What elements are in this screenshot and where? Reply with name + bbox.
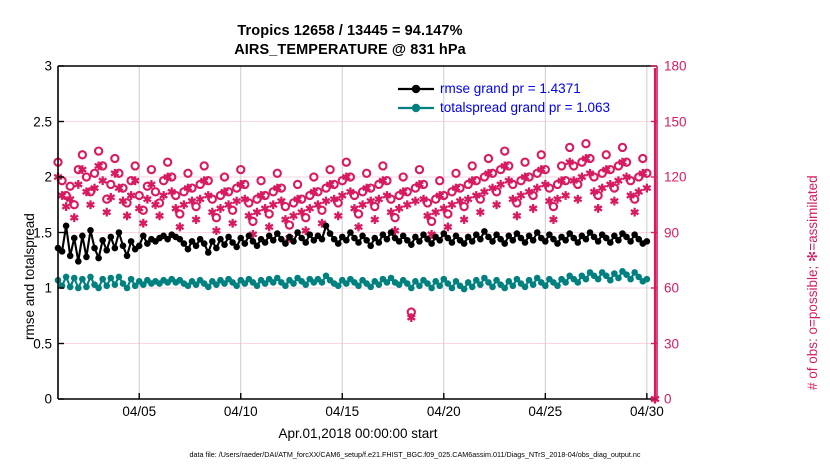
- obs-assimilated-marker: [574, 195, 582, 204]
- rmse-point: [237, 235, 244, 242]
- obs-possible-marker: [79, 151, 86, 158]
- obs-possible-marker: [379, 162, 386, 169]
- rmse-point: [120, 243, 127, 250]
- obs-assimilated-marker: [403, 200, 411, 209]
- obs-possible-marker: [538, 151, 545, 158]
- rmse-point: [347, 229, 354, 236]
- obs-assimilated-marker: [103, 208, 111, 217]
- obs-possible-marker: [266, 210, 273, 217]
- rmse-point: [217, 236, 224, 243]
- totalspread-point: [376, 281, 383, 288]
- rmse-point: [388, 229, 395, 236]
- obs-assimilated-marker: [306, 204, 314, 213]
- obs-possible-marker: [302, 214, 309, 221]
- rmse-point: [270, 237, 277, 244]
- obs-possible-marker: [132, 162, 139, 169]
- obs-assimilated-marker: [322, 197, 330, 206]
- obs-possible-marker: [371, 203, 378, 210]
- obs-assimilated-marker: [99, 176, 107, 185]
- y-tick-label-left: 0.5: [0, 336, 52, 351]
- obs-assimilated-marker: [156, 211, 164, 220]
- obs-possible-marker: [176, 210, 183, 217]
- obs-assimilated-marker: [74, 180, 82, 189]
- obs-possible-marker: [355, 210, 362, 217]
- legend-item-totalspread: totalspread grand pr = 1.063: [396, 98, 610, 117]
- obs-assimilated-marker: [107, 193, 115, 202]
- rmse-point: [95, 255, 102, 262]
- obs-possible-marker: [416, 166, 423, 173]
- totalspread-point: [575, 279, 582, 286]
- totalspread-point: [615, 275, 622, 282]
- rmse-point: [221, 241, 228, 248]
- obs-assimilated-marker: [643, 184, 651, 193]
- totalspread-point: [428, 285, 435, 292]
- obs-possible-marker: [249, 218, 256, 225]
- x-tick-label: 04/25: [510, 404, 580, 419]
- rmse-point: [116, 229, 123, 236]
- obs-assimilated-marker: [594, 204, 602, 213]
- obs-possible-marker: [326, 166, 333, 173]
- rmse-point: [67, 253, 74, 260]
- obs-assimilated-marker: [460, 215, 468, 224]
- rmse-point: [489, 238, 496, 245]
- rmse-point: [327, 230, 334, 237]
- obs-possible-marker: [213, 214, 220, 221]
- obs-possible-marker: [558, 162, 565, 169]
- obs-possible-marker: [501, 148, 508, 155]
- totalspread-point: [116, 274, 123, 281]
- obs-assimilated-marker: [135, 204, 143, 213]
- totalspread-point: [302, 281, 309, 288]
- y-tick-label-right: 180: [664, 59, 710, 74]
- rmse-point: [87, 227, 94, 234]
- obs-assimilated-marker: [253, 208, 261, 217]
- rmse-point: [140, 233, 147, 240]
- legend-marker-totalspread-icon: [396, 101, 436, 115]
- totalspread-point: [205, 284, 212, 291]
- legend-item-rmse: rmse grand pr = 1.4371: [396, 79, 610, 98]
- totalspread-point: [562, 279, 569, 286]
- obs-possible-marker: [391, 214, 398, 221]
- totalspread-point: [124, 285, 131, 292]
- totalspread-point: [128, 276, 135, 283]
- rmse-point: [562, 237, 569, 244]
- obs-possible-marker: [619, 144, 626, 151]
- rmse-point: [534, 229, 541, 236]
- totalspread-point: [290, 280, 297, 287]
- obs-assimilated-marker: [62, 202, 70, 211]
- rmse-point: [136, 243, 143, 250]
- rmse-point: [323, 223, 330, 230]
- rmse-point: [209, 238, 216, 245]
- totalspread-point: [335, 282, 342, 289]
- obs-assimilated-marker: [529, 204, 537, 213]
- rmse-point: [201, 240, 208, 247]
- obs-possible-marker: [461, 203, 468, 210]
- obs-assimilated-marker: [371, 215, 379, 224]
- obs-assimilated-marker: [562, 191, 570, 200]
- y-tick-label-left: 0: [0, 392, 52, 407]
- data-file-footer: data file: /Users/raeder/DAI/ATM_forcXX/…: [0, 450, 830, 459]
- obs-possible-marker: [201, 162, 208, 169]
- rmse-point: [461, 240, 468, 247]
- totalspread-point: [67, 284, 74, 291]
- totalspread-point: [501, 285, 508, 292]
- rmse-point: [262, 239, 269, 246]
- rmse-point: [112, 245, 119, 252]
- rmse-point: [124, 253, 131, 260]
- totalspread-point: [583, 276, 590, 283]
- obs-assimilated-marker: [217, 204, 225, 213]
- y-tick-label-left: 2.5: [0, 114, 52, 129]
- y-tick-label-left: 1.5: [0, 225, 52, 240]
- rmse-point: [274, 230, 281, 237]
- rmse-point: [205, 249, 212, 256]
- obs-possible-marker: [485, 155, 492, 162]
- obs-assimilated-marker: [432, 208, 440, 217]
- rmse-point: [428, 240, 435, 247]
- x-tick-label: 04/10: [206, 404, 276, 419]
- totalspread-point: [112, 281, 119, 288]
- obs-possible-marker: [550, 203, 557, 210]
- legend: rmse grand pr = 1.4371 totalspread grand…: [392, 78, 614, 119]
- rmse-point: [416, 238, 423, 245]
- rmse-point: [396, 238, 403, 245]
- obs-possible-marker: [257, 177, 264, 184]
- y-tick-label-left: 2: [0, 170, 52, 185]
- rmse-point: [83, 254, 90, 261]
- obs-possible-marker: [107, 181, 114, 188]
- rmse-point: [282, 240, 289, 247]
- rmse-point: [302, 239, 309, 246]
- legend-label-totalspread: totalspread grand pr = 1.063: [440, 100, 610, 115]
- rmse-point: [79, 233, 86, 240]
- rmse-point: [530, 237, 537, 244]
- obs-assimilated-marker: [477, 208, 485, 217]
- obs-assimilated-marker: [444, 223, 452, 232]
- obs-assimilated-marker: [70, 213, 78, 222]
- rmse-point: [59, 248, 66, 255]
- totalspread-point: [644, 276, 651, 283]
- rmse-point: [355, 239, 362, 246]
- totalspread-point: [449, 285, 456, 292]
- rmse-point: [233, 244, 240, 251]
- y-tick-label-right: 150: [664, 114, 710, 129]
- obs-assimilated-marker: [611, 197, 619, 206]
- totalspread-point: [87, 274, 94, 281]
- obs-assimilated-marker: [631, 208, 639, 217]
- rmse-point: [363, 237, 370, 244]
- rmse-point: [510, 237, 517, 244]
- totalspread-point: [319, 279, 326, 286]
- y-tick-label-right: 120: [664, 170, 710, 185]
- totalspread-point: [542, 282, 549, 289]
- obs-possible-marker: [274, 170, 281, 177]
- rmse-point: [294, 229, 301, 236]
- obs-assimilated-marker: [269, 200, 277, 209]
- obs-assimilated-marker: [144, 195, 152, 204]
- rmse-point: [128, 238, 135, 245]
- rmse-point: [583, 236, 590, 243]
- rmse-point: [181, 240, 188, 247]
- obs-assimilated-marker: [152, 200, 160, 209]
- rmse-point: [246, 233, 253, 240]
- obs-assimilated-marker: [265, 223, 273, 232]
- obs-possible-marker: [294, 181, 301, 188]
- rmse-point: [99, 237, 106, 244]
- rmse-point: [575, 239, 582, 246]
- rmse-point: [242, 240, 249, 247]
- obs-possible-marker: [184, 170, 191, 177]
- legend-label-rmse: rmse grand pr = 1.4371: [440, 81, 581, 96]
- obs-assimilated-marker: [493, 200, 501, 209]
- totalspread-point: [522, 284, 529, 291]
- obs-assimilated-marker: [119, 197, 127, 206]
- obs-assimilated-marker: [395, 204, 403, 213]
- obs-possible-marker: [286, 222, 293, 229]
- x-tick-label: 04/15: [307, 404, 377, 419]
- totalspread-point: [416, 282, 423, 289]
- rmse-point: [225, 234, 232, 241]
- totalspread-point: [510, 282, 517, 289]
- totalspread-point: [79, 276, 86, 283]
- totalspread-point: [595, 276, 602, 283]
- rmse-point: [501, 240, 508, 247]
- totalspread-point: [282, 282, 289, 289]
- totalspread-point: [607, 277, 614, 284]
- obs-assimilated-marker: [87, 200, 95, 209]
- rmse-point: [469, 238, 476, 245]
- obs-possible-marker: [282, 203, 289, 210]
- obs-assimilated-marker: [233, 197, 241, 206]
- rmse-point: [71, 235, 78, 242]
- obs-assimilated-marker: [412, 197, 420, 206]
- rmse-point: [213, 245, 220, 252]
- rmse-point: [477, 236, 484, 243]
- obs-assimilated-marker: [550, 215, 558, 224]
- rmse-point: [319, 236, 326, 243]
- obs-possible-marker: [521, 159, 528, 166]
- rmse-point: [290, 238, 297, 245]
- rmse-point: [627, 238, 634, 245]
- x-tick-label: 04/05: [104, 404, 174, 419]
- totalspread-point: [355, 282, 362, 289]
- obs-possible-marker: [95, 148, 102, 155]
- totalspread-point: [95, 285, 102, 292]
- rmse-point: [254, 243, 261, 250]
- legend-marker-rmse-icon: [396, 82, 436, 96]
- obs-assimilated-marker: [359, 200, 367, 209]
- obs-assimilated-marker: [355, 223, 363, 232]
- obs-possible-marker: [192, 203, 199, 210]
- rmse-point: [408, 241, 415, 248]
- totalspread-point: [489, 284, 496, 291]
- obs-assimilated-marker: [290, 211, 298, 220]
- rmse-point: [449, 239, 456, 246]
- rmse-point: [481, 228, 488, 235]
- obs-assimilated-marker: [176, 223, 184, 232]
- obs-assimilated-marker: [123, 211, 131, 220]
- obs-possible-marker: [582, 140, 589, 147]
- rmse-point: [644, 238, 651, 245]
- obs-assimilated-marker: [192, 215, 200, 224]
- y-tick-label-left: 1: [0, 281, 52, 296]
- obs-assimilated-marker: [513, 211, 521, 220]
- obs-possible-marker: [444, 210, 451, 217]
- totalspread-point: [75, 285, 82, 292]
- obs-possible-marker: [152, 188, 159, 195]
- rmse-point: [554, 240, 561, 247]
- rmse-point: [343, 237, 350, 244]
- rmse-point: [615, 237, 622, 244]
- obs-possible-marker: [229, 207, 236, 214]
- totalspread-point: [99, 276, 106, 283]
- totalspread-point: [530, 281, 537, 288]
- totalspread-point: [233, 282, 240, 289]
- obs-possible-marker: [164, 159, 171, 166]
- y-tick-label-right: 90: [664, 225, 710, 240]
- obs-assimilated-marker: [180, 200, 188, 209]
- totalspread-point: [627, 276, 634, 283]
- rmse-point: [193, 243, 200, 250]
- obs-possible-marker: [91, 170, 98, 177]
- obs-assimilated-marker: [139, 219, 147, 228]
- totalspread-point: [554, 282, 561, 289]
- y-tick-label-right: 30: [664, 336, 710, 351]
- totalspread-point: [367, 284, 374, 291]
- rmse-point: [522, 239, 529, 246]
- obs-assimilated-marker: [334, 211, 342, 220]
- obs-assimilated-marker: [229, 219, 237, 228]
- obs-possible-marker: [318, 207, 325, 214]
- x-tick-label: 04/20: [409, 404, 479, 419]
- rmse-point: [185, 246, 192, 253]
- rmse-point: [436, 237, 443, 244]
- rmse-point: [91, 245, 98, 252]
- obs-possible-marker: [67, 183, 74, 190]
- rmse-point: [107, 234, 114, 241]
- rmse-point: [367, 243, 374, 250]
- rmse-point: [63, 223, 70, 230]
- x-tick-label: 04/30: [612, 404, 682, 419]
- obs-assimilated-marker: [213, 226, 221, 235]
- obs-possible-marker: [148, 166, 155, 173]
- rmse-point: [306, 231, 313, 238]
- obs-possible-marker: [452, 170, 459, 177]
- rmse-point: [335, 240, 342, 247]
- totalspread-point: [71, 275, 78, 282]
- totalspread-point: [63, 274, 70, 281]
- obs-assimilated-marker: [448, 200, 456, 209]
- obs-possible-marker: [566, 144, 573, 151]
- y-tick-label-right: 60: [664, 281, 710, 296]
- totalspread-point: [408, 285, 415, 292]
- totalspread-point: [436, 282, 443, 289]
- rmse-point: [384, 236, 391, 243]
- totalspread-point: [254, 282, 261, 289]
- obs-possible-marker: [363, 170, 370, 177]
- obs-diagnostic-figure: Tropics 12658 / 13445 = 94.147% AIRS_TEM…: [0, 0, 830, 470]
- obs-possible-marker: [639, 155, 646, 162]
- rmse-point: [542, 238, 549, 245]
- obs-possible-marker: [603, 151, 610, 158]
- obs-possible-marker: [343, 159, 350, 166]
- totalspread-point: [477, 281, 484, 288]
- rmse-point: [103, 247, 110, 254]
- obs-possible-marker: [111, 155, 118, 162]
- rmse-point: [376, 239, 383, 246]
- y-tick-label-left: 3: [0, 59, 52, 74]
- totalspread-point: [103, 282, 110, 289]
- totalspread-point: [107, 275, 114, 282]
- obs-possible-marker: [436, 177, 443, 184]
- rmse-point: [595, 238, 602, 245]
- obs-possible-marker: [428, 218, 435, 225]
- rmse-point: [607, 239, 614, 246]
- totalspread-point: [83, 284, 90, 291]
- obs-possible-marker: [71, 201, 78, 208]
- rmse-point: [75, 258, 82, 265]
- totalspread-point: [469, 284, 476, 291]
- totalspread-point: [461, 286, 468, 293]
- obs-possible-marker: [469, 162, 476, 169]
